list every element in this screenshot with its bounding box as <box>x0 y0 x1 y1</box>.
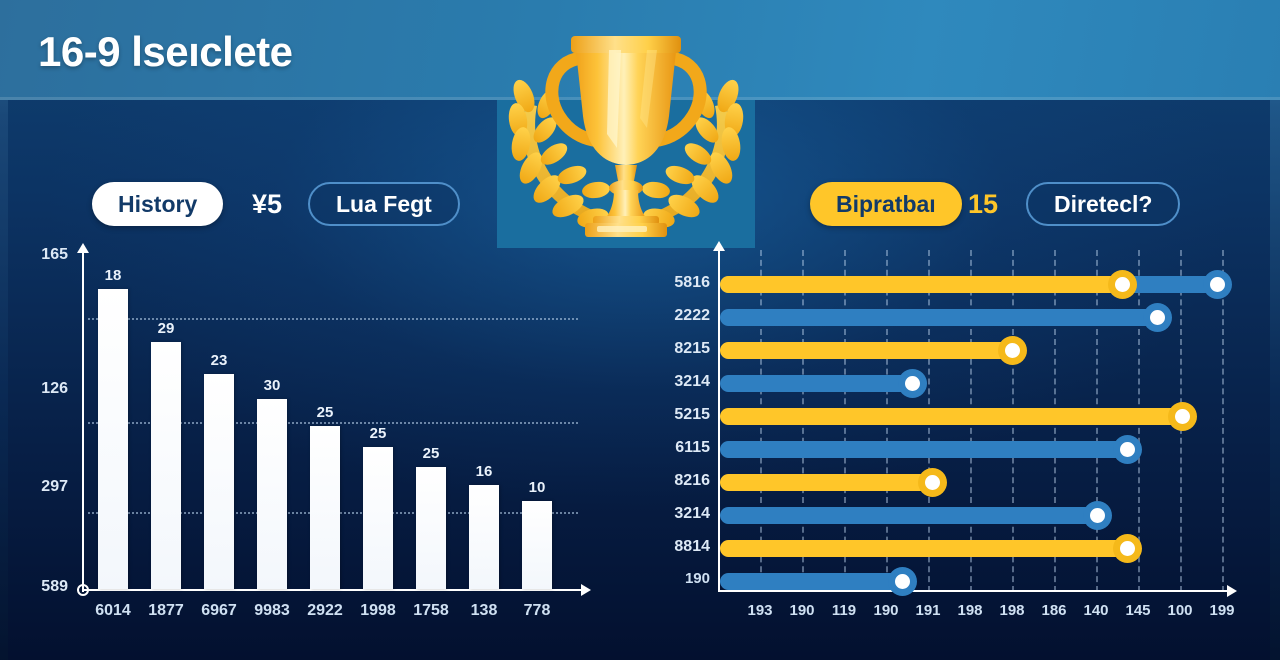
right-chart-corner-label: 190 <box>646 570 710 587</box>
left-chart-y-axis <box>82 252 84 592</box>
left-chart-x-tick-label: 138 <box>456 602 512 620</box>
right-chart-bar[interactable] <box>720 573 910 590</box>
page-title: 16-9 lseıclete <box>38 28 293 76</box>
right-chart-bar-end-dot[interactable] <box>918 468 947 497</box>
right-chart-y-tick-label: 8814 <box>644 538 710 556</box>
right-chart-y-tick-label: 5816 <box>644 274 710 292</box>
left-chart-bar-value: 25 <box>300 404 350 421</box>
left-chart-x-tick-label: 1998 <box>350 602 406 620</box>
right-pill-separator-label: 15 <box>968 182 998 226</box>
left-chart-bar-value: 30 <box>247 377 297 394</box>
left-chart-y-tick-label: 126 <box>12 380 68 398</box>
trophy-bowl <box>575 42 677 165</box>
right-chart-x-tick-label: 119 <box>823 602 865 619</box>
left-chart-x-tick-label: 2922 <box>297 602 353 620</box>
left-chart-bar-value: 16 <box>459 463 509 480</box>
right-chart-y-tick-label: 6115 <box>644 439 710 457</box>
left-chart-x-axis <box>82 589 582 591</box>
right-chart-x-tick-label: 100 <box>1159 602 1201 619</box>
left-chart-x-tick-label: 6967 <box>191 602 247 620</box>
right-chart-gridline <box>1222 250 1224 592</box>
right-chart-y-tick-label: 3214 <box>644 505 710 523</box>
right-chart-y-tick-label: 5215 <box>644 406 710 424</box>
right-chart-bar[interactable] <box>720 342 1020 359</box>
left-chart-bar-value: 23 <box>194 352 244 369</box>
left-chart-bar[interactable] <box>151 342 181 589</box>
left-chart-x-tick-label: 9983 <box>244 602 300 620</box>
right-chart-bar-end-dot[interactable] <box>1143 303 1172 332</box>
right-chart-x-tick-label: 191 <box>907 602 949 619</box>
right-chart-bar[interactable] <box>720 507 1105 524</box>
left-column-chart: 165126297589 182923302525251610 60141877… <box>30 240 590 630</box>
right-chart-y-tick-label: 8215 <box>644 340 710 358</box>
left-chart-bar[interactable] <box>204 374 234 589</box>
right-chart-bar[interactable] <box>720 309 1165 326</box>
filter-pill-history-label: History <box>118 191 197 218</box>
filter-pill-diretecl[interactable]: Diretecl? <box>1026 182 1180 226</box>
right-chart-bar[interactable] <box>720 441 1135 458</box>
right-chart-x-tick-label: 186 <box>1033 602 1075 619</box>
left-chart-bar[interactable] <box>522 501 552 589</box>
right-chart-x-tick-label: 190 <box>865 602 907 619</box>
right-chart-bar-end-dot[interactable] <box>1083 501 1112 530</box>
left-chart-bar[interactable] <box>257 399 287 589</box>
left-chart-x-tick-label: 1877 <box>138 602 194 620</box>
right-chart-x-tick-label: 199 <box>1201 602 1243 619</box>
right-chart-bar-end-dot[interactable] <box>1203 270 1232 299</box>
right-chart-x-tick-label: 190 <box>781 602 823 619</box>
right-chart-bar-end-dot[interactable] <box>998 336 1027 365</box>
right-chart-bar[interactable] <box>720 276 1130 293</box>
right-chart-x-tick-label: 140 <box>1075 602 1117 619</box>
right-chart-bar-end-dot[interactable] <box>1108 270 1137 299</box>
left-chart-bar-value: 18 <box>88 267 138 284</box>
left-chart-bar[interactable] <box>469 485 499 589</box>
right-chart-x-axis <box>718 590 1228 592</box>
left-chart-bar[interactable] <box>98 289 128 589</box>
right-chart-y-tick-label: 3214 <box>644 373 710 391</box>
right-chart-y-tick-label: 8216 <box>644 472 710 490</box>
right-chart-y-tick-label: 2222 <box>644 307 710 325</box>
left-chart-bar-value: 25 <box>406 445 456 462</box>
right-chart-bar-end-dot[interactable] <box>1113 435 1142 464</box>
right-chart-bar[interactable] <box>720 540 1135 557</box>
left-chart-bar[interactable] <box>310 426 340 589</box>
left-chart-bar-value: 29 <box>141 320 191 337</box>
right-chart-bar[interactable] <box>720 375 920 392</box>
right-chart-bar-end-dot[interactable] <box>1113 534 1142 563</box>
right-chart-bar[interactable] <box>720 474 940 491</box>
left-chart-y-tick-label: 589 <box>12 578 68 596</box>
left-chart-bar[interactable] <box>363 447 393 589</box>
right-chart-x-tick-label: 198 <box>949 602 991 619</box>
left-chart-y-tick-label: 165 <box>12 246 68 264</box>
left-pill-separator: ¥5 <box>252 182 282 226</box>
left-pill-separator-label: ¥5 <box>252 182 282 226</box>
left-chart-bar-value: 25 <box>353 425 403 442</box>
filter-pill-bipratbai-label: Bipratbaı <box>836 191 936 218</box>
poster-canvas: 16-9 lseıclete <box>0 0 1280 660</box>
right-chart-x-tick-label: 198 <box>991 602 1033 619</box>
trophy-laurel-icon <box>497 8 755 240</box>
right-chart-bar-end-dot[interactable] <box>1168 402 1197 431</box>
filter-pill-lua-fegt-label: Lua Fegt <box>336 191 432 218</box>
left-chart-x-tick-label: 1758 <box>403 602 459 620</box>
right-chart-bar-end-dot[interactable] <box>898 369 927 398</box>
trophy-rim <box>571 36 681 53</box>
right-chart-bar[interactable] <box>720 408 1190 425</box>
left-chart-x-tick-label: 6014 <box>85 602 141 620</box>
right-pill-separator: 15 <box>968 182 998 226</box>
filter-pill-bipratbai[interactable]: Bipratbaı <box>810 182 962 226</box>
right-chart-y-axis <box>718 250 720 592</box>
filter-pill-history[interactable]: History <box>92 182 223 226</box>
left-chart-bar-value: 10 <box>512 479 562 496</box>
right-chart-bar-end-dot[interactable] <box>888 567 917 596</box>
right-chart-x-tick-label: 145 <box>1117 602 1159 619</box>
filter-pill-lua-fegt[interactable]: Lua Fegt <box>308 182 460 226</box>
left-chart-y-tick-label: 297 <box>12 478 68 496</box>
left-chart-bar[interactable] <box>416 467 446 589</box>
filter-pill-diretecl-label: Diretecl? <box>1054 191 1152 218</box>
right-chart-x-tick-label: 193 <box>739 602 781 619</box>
right-lollipop-chart: 581622228215321452156115821632148814 193… <box>650 240 1260 630</box>
left-chart-x-tick-label: 778 <box>509 602 565 620</box>
